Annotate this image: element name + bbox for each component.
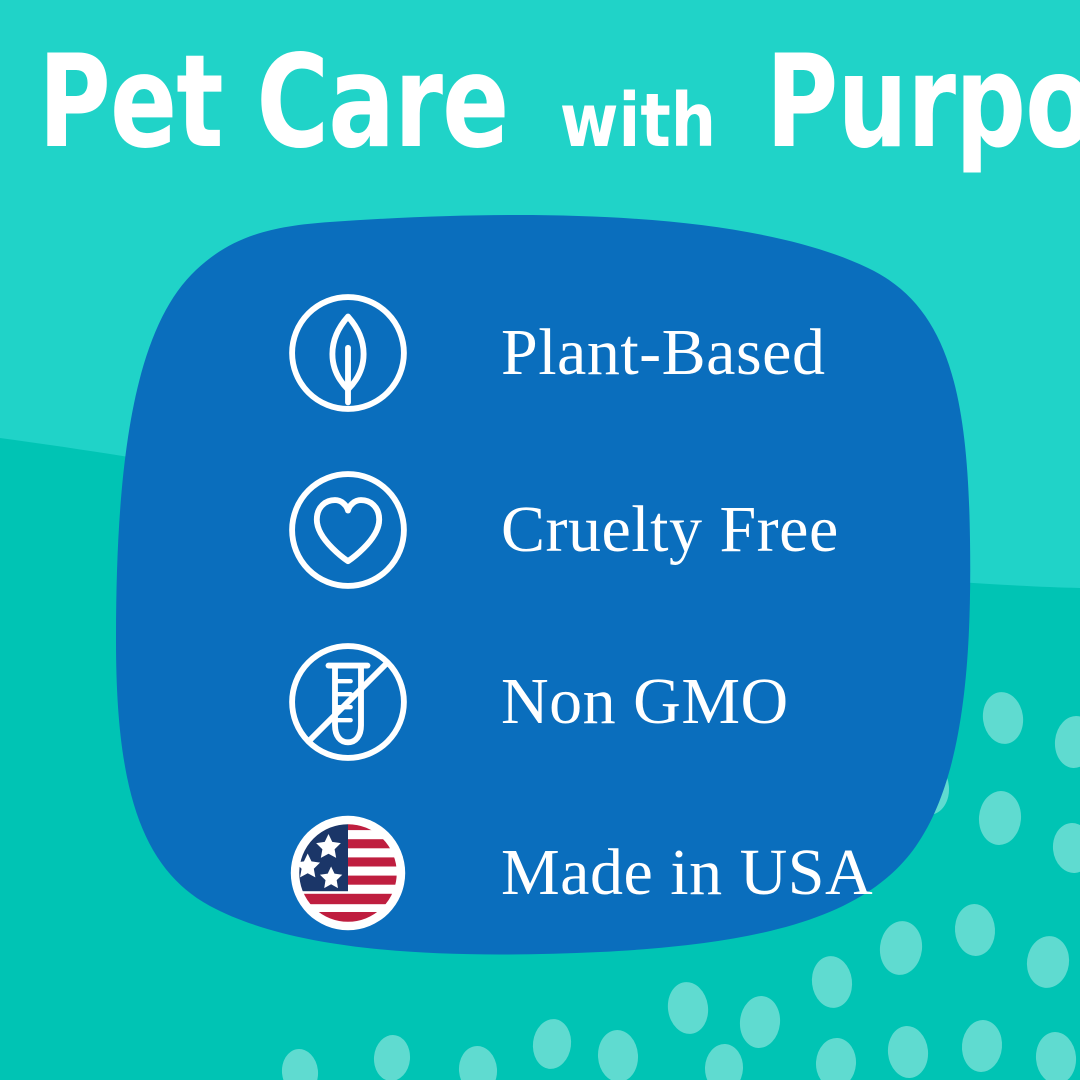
heart-circle-icon	[283, 465, 413, 595]
feature-row-cruelty-free: Cruelty Free	[283, 465, 839, 595]
feature-label-made-in-usa: Made in USA	[501, 840, 873, 906]
no-gmo-icon	[283, 637, 413, 767]
page-title: Pet CarewithPurpose®	[0, 28, 1080, 177]
promo-graphic: Pet CarewithPurpose® Plant-Based Cruelty…	[0, 0, 1080, 1080]
feature-row-non-gmo: Non GMO	[283, 637, 789, 767]
feature-row-made-in-usa: Made in USA	[283, 808, 873, 938]
usa-flag-icon	[283, 808, 413, 938]
feature-row-plant-based: Plant-Based	[283, 288, 825, 418]
headline-part-two: Purpose	[765, 28, 1080, 177]
feature-label-cruelty-free: Cruelty Free	[501, 497, 839, 563]
feature-label-plant-based: Plant-Based	[501, 320, 825, 386]
leaf-circle-icon	[283, 288, 413, 418]
headline-part-one: Pet Care	[38, 28, 508, 177]
feature-label-non-gmo: Non GMO	[501, 669, 789, 735]
headline-part-small: with	[559, 78, 715, 164]
